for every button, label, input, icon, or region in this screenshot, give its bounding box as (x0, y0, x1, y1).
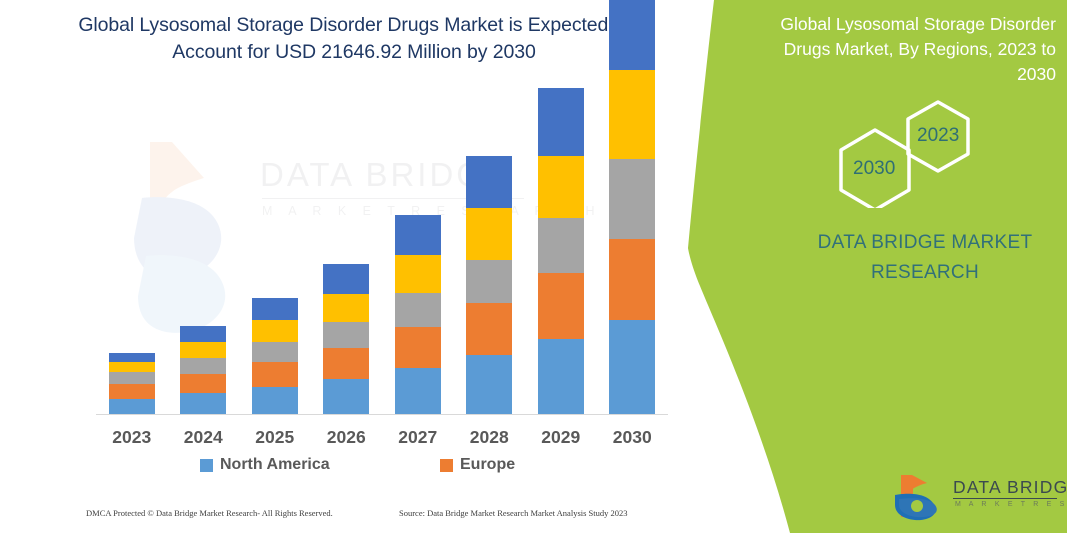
segment-south-america-2028 (466, 156, 512, 208)
segment-north-america-2026 (323, 379, 369, 415)
segment-europe-2025 (252, 362, 298, 387)
segment-asia-pacific-2027 (395, 293, 441, 327)
logo-rule (953, 498, 1057, 499)
segment-south-america-2026 (323, 264, 369, 294)
segment-middle-east-and-africa-2023 (109, 362, 155, 372)
segment-middle-east-and-africa-2024 (180, 342, 226, 358)
chart-pane: Global Lysosomal Storage Disorder Drugs … (0, 0, 706, 533)
segment-north-america-2029 (538, 339, 584, 415)
segment-north-america-2028 (466, 355, 512, 415)
footer-copyright: DMCA Protected © Data Bridge Market Rese… (86, 508, 333, 518)
x-tick-2030: 2030 (596, 427, 668, 448)
x-tick-2029: 2029 (525, 427, 597, 448)
segment-asia-pacific-2024 (180, 358, 226, 374)
segment-south-america-2027 (395, 215, 441, 255)
panel-title: Global Lysosomal Storage Disorder Drugs … (766, 12, 1056, 87)
segment-asia-pacific-2030 (609, 159, 655, 239)
segment-middle-east-and-africa-2030 (609, 70, 655, 159)
legend-label: North America (220, 456, 330, 474)
segment-europe-2023 (109, 384, 155, 399)
segment-europe-2027 (395, 327, 441, 368)
segment-asia-pacific-2025 (252, 342, 298, 362)
footer-source: Source: Data Bridge Market Research Mark… (399, 508, 628, 518)
brand-logo: DATA BRIDGE M A R K E T R E S E A R C H (893, 473, 1059, 521)
segment-europe-2028 (466, 303, 512, 355)
x-axis-labels: 20232024202520262027202820292030 (96, 427, 668, 453)
segment-middle-east-and-africa-2028 (466, 208, 512, 260)
hexagon-label-2030: 2030 (853, 158, 895, 180)
bar-2027 (395, 215, 441, 415)
infographic-canvas: Global Lysosomal Storage Disorder Drugs … (0, 0, 1067, 533)
x-tick-2028: 2028 (453, 427, 525, 448)
segment-north-america-2027 (395, 368, 441, 415)
segment-south-america-2023 (109, 353, 155, 362)
page-title: Global Lysosomal Storage Disorder Drugs … (58, 12, 650, 66)
segment-europe-2030 (609, 239, 655, 320)
segment-middle-east-and-africa-2027 (395, 255, 441, 293)
bar-2023 (109, 353, 155, 415)
segment-europe-2026 (323, 348, 369, 379)
hexagon-label-2023: 2023 (917, 125, 959, 147)
logo-tagline: M A R K E T R E S E A R C H (955, 501, 1067, 508)
bar-2025 (252, 298, 298, 415)
segment-middle-east-and-africa-2026 (323, 294, 369, 322)
segment-north-america-2030 (609, 320, 655, 415)
bar-2024 (180, 326, 226, 415)
segment-south-america-2024 (180, 326, 226, 342)
logo-brand-name: DATA BRIDGE (953, 477, 1067, 498)
segment-north-america-2024 (180, 393, 226, 415)
x-tick-2023: 2023 (96, 427, 168, 448)
x-tick-2026: 2026 (310, 427, 382, 448)
x-tick-2025: 2025 (239, 427, 311, 448)
segment-europe-2024 (180, 374, 226, 393)
bar-2028 (466, 156, 512, 415)
panel-brand-line2: RESEARCH (871, 262, 979, 283)
segment-asia-pacific-2028 (466, 260, 512, 303)
panel-brand-name: DATA BRIDGE MARKET RESEARCH (790, 228, 1060, 288)
hexagon-outline-icon (820, 98, 985, 208)
x-tick-2024: 2024 (167, 427, 239, 448)
segment-middle-east-and-africa-2029 (538, 156, 584, 218)
segment-europe-2029 (538, 273, 584, 339)
x-axis-line (96, 414, 668, 415)
segment-north-america-2025 (252, 387, 298, 415)
legend-label: Europe (460, 456, 515, 474)
stacked-bar-chart (96, 120, 668, 415)
bar-2026 (323, 264, 369, 415)
segment-north-america-2023 (109, 399, 155, 415)
legend-item-europe[interactable]: Europe (440, 456, 515, 474)
segment-asia-pacific-2026 (323, 322, 369, 348)
segment-asia-pacific-2023 (109, 372, 155, 384)
chart-legend: North AmericaEurope (200, 456, 580, 480)
legend-item-north-america[interactable]: North America (200, 456, 330, 474)
data-bridge-logo-icon (893, 473, 947, 521)
segment-south-america-2030 (609, 0, 655, 70)
segment-south-america-2029 (538, 88, 584, 156)
hexagon-group: 2023 2030 (820, 98, 985, 208)
segment-south-america-2025 (252, 298, 298, 320)
x-tick-2027: 2027 (382, 427, 454, 448)
segment-asia-pacific-2029 (538, 218, 584, 273)
legend-swatch-icon (200, 459, 213, 472)
bar-2030 (609, 0, 655, 415)
panel-brand-line1: DATA BRIDGE MARKET (818, 232, 1033, 253)
segment-middle-east-and-africa-2025 (252, 320, 298, 342)
legend-swatch-icon (440, 459, 453, 472)
bar-2029 (538, 88, 584, 415)
